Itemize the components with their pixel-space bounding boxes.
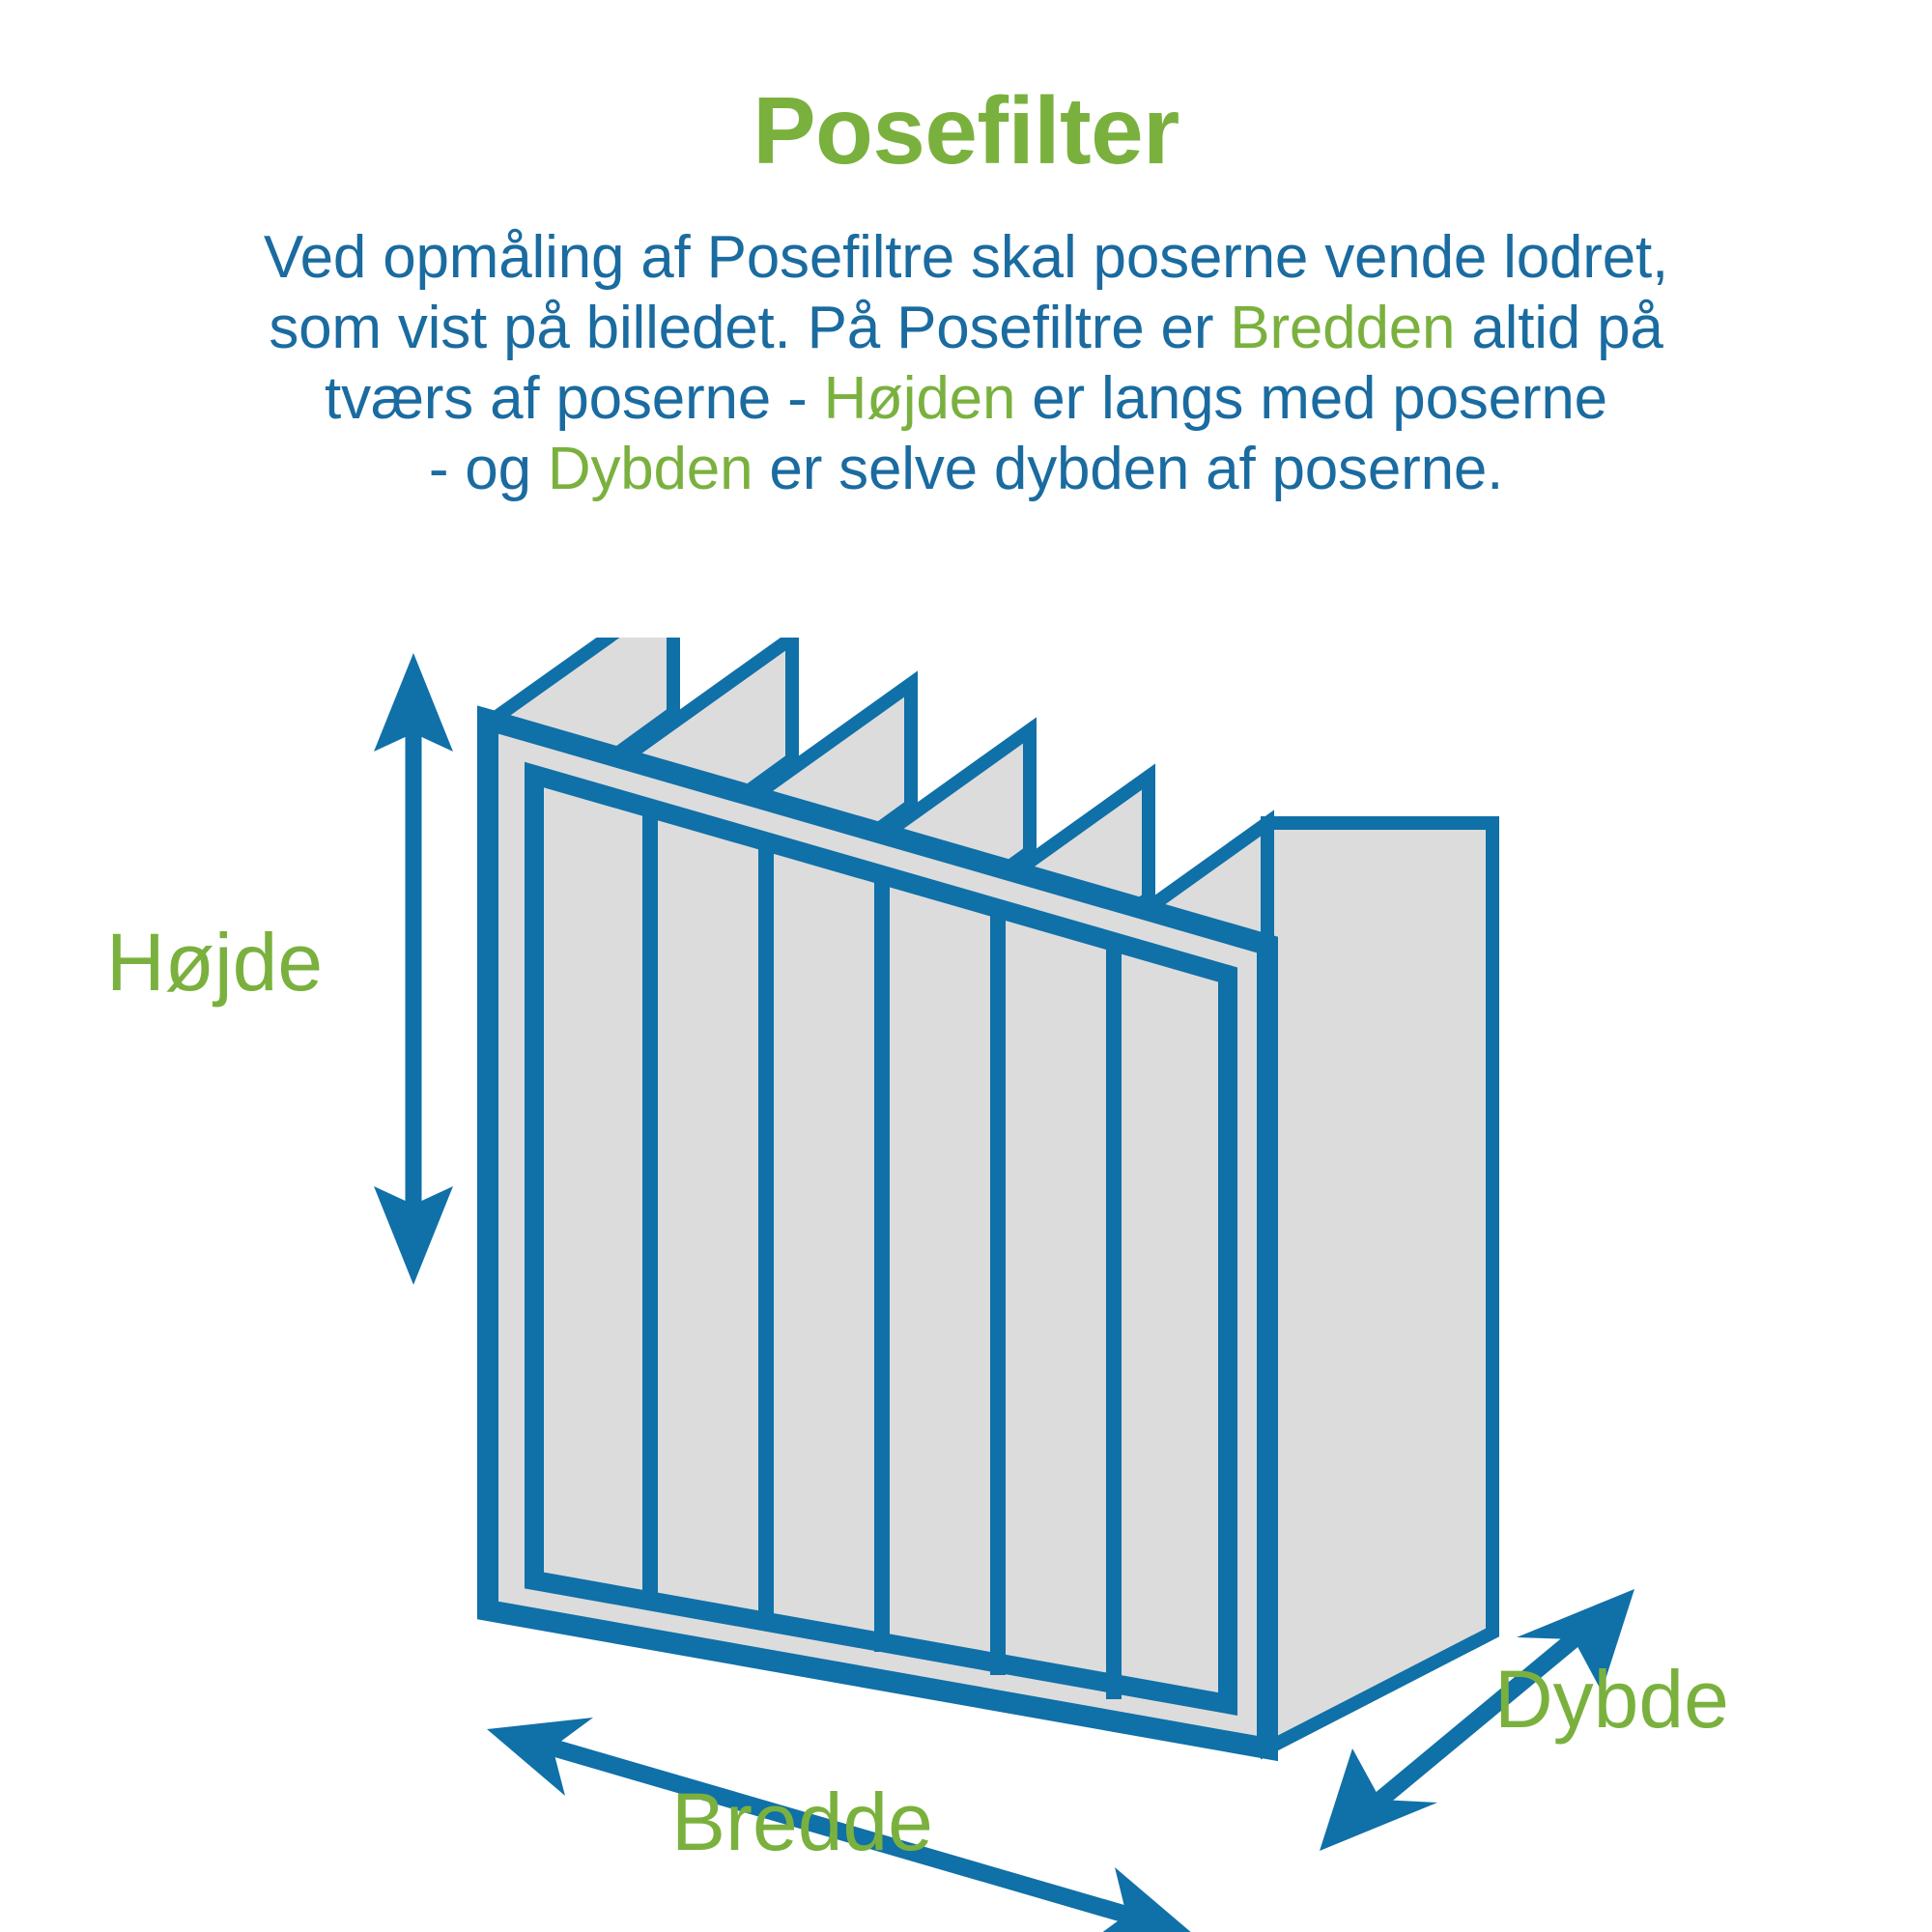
intro-seg: tværs af poserne - — [325, 365, 824, 432]
intro-seg: er selve dybden af poserne. — [753, 436, 1503, 502]
intro-keyword-bredden: Bredden — [1230, 295, 1455, 361]
poster-page: Posefilter Ved opmåling af Posefiltre sk… — [0, 0, 1932, 1932]
intro-keyword-dybden: Dybden — [548, 436, 753, 502]
intro-line-4: - og Dybden er selve dybden af poserne. — [97, 434, 1835, 504]
intro-line-3: tværs af poserne - Højden er langs med p… — [97, 363, 1835, 434]
intro-seg: som vist på billedet. På Posefiltre er — [269, 295, 1230, 361]
filter-diagram-svg: Højde Bredde Dybde — [0, 638, 1932, 1932]
page-title: Posefilter — [0, 83, 1932, 180]
header: Posefilter Ved opmåling af Posefiltre sk… — [0, 0, 1932, 505]
height-label: Højde — [106, 917, 323, 1008]
filter-diagram: Højde Bredde Dybde — [0, 638, 1932, 1932]
side-panel-face — [1267, 823, 1492, 1748]
width-label: Bredde — [671, 1776, 933, 1867]
intro-paragraph: Ved opmåling af Posefiltre skal poserne … — [0, 222, 1932, 505]
intro-seg: er langs med poserne — [1015, 365, 1607, 432]
side-panel-group — [1267, 823, 1492, 1748]
intro-keyword-hojden: Højden — [824, 365, 1016, 432]
height-arrow — [374, 653, 453, 1285]
intro-seg: - og — [429, 436, 548, 502]
depth-label: Dybde — [1494, 1654, 1729, 1745]
intro-seg: altid på — [1455, 295, 1662, 361]
intro-line-1: Ved opmåling af Posefiltre skal poserne … — [97, 222, 1835, 293]
intro-line-2: som vist på billedet. På Posefiltre er B… — [97, 293, 1835, 363]
intro-seg: Ved opmåling af Posefiltre skal poserne … — [264, 224, 1668, 291]
